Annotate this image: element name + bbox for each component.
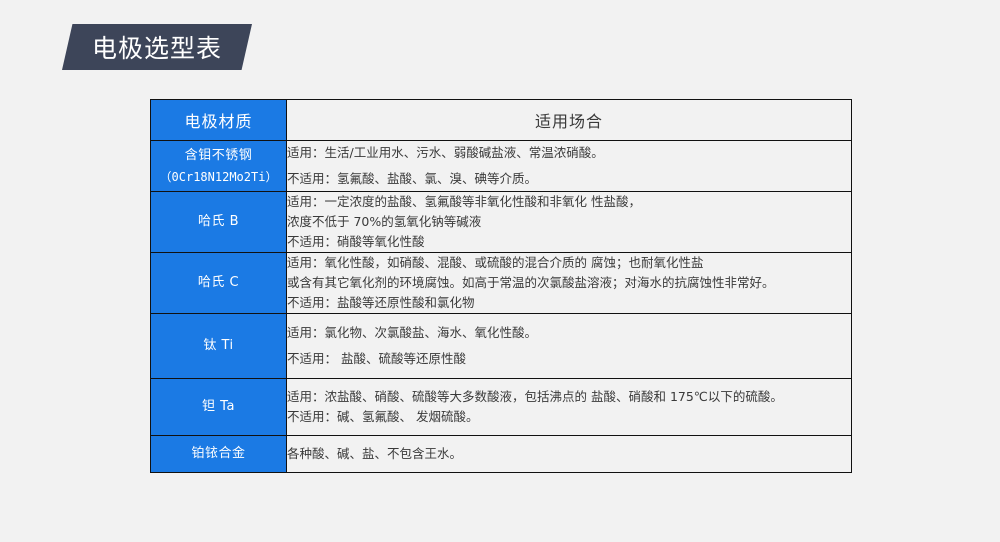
table-row: 钽 Ta 适用：浓盐酸、硝酸、硫酸等大多数酸液，包括沸点的 盐酸、硝酸和 175… bbox=[151, 379, 852, 436]
usage-line: 浓度不低于 70%的氢氧化钠等碱液 bbox=[287, 212, 851, 232]
material-cell: 哈氏 C bbox=[151, 253, 287, 314]
page-title-banner: 电极选型表 bbox=[62, 24, 252, 70]
material-cell: 哈氏 B bbox=[151, 192, 287, 253]
material-name: 哈氏 C bbox=[198, 275, 239, 290]
usage-line: 不适用：硝酸等氧化性酸 bbox=[287, 232, 851, 252]
page-title: 电极选型表 bbox=[62, 24, 252, 70]
electrode-selection-table: 电极材质 适用场合 含钼不锈钢 （0Cr18N12Mo2Ti） 适用：生活/工业… bbox=[150, 99, 852, 473]
usage-line: 各种酸、碱、盐、不包含王水。 bbox=[287, 444, 851, 464]
material-name: 钽 Ta bbox=[202, 399, 235, 414]
table-row: 哈氏 C 适用：氧化性酸，如硝酸、混酸、或硫酸的混合介质的 腐蚀；也耐氧化性盐 … bbox=[151, 253, 852, 314]
usage-line: 适用：氯化物、次氯酸盐、海水、氧化性酸。 bbox=[287, 323, 851, 343]
usage-cell: 适用：浓盐酸、硝酸、硫酸等大多数酸液，包括沸点的 盐酸、硝酸和 175℃以下的硫… bbox=[287, 379, 852, 436]
usage-line: 不适用：氢氟酸、盐酸、氯、溴、碘等介质。 bbox=[287, 169, 851, 189]
column-header-usage: 适用场合 bbox=[287, 100, 852, 141]
table-header-row: 电极材质 适用场合 bbox=[151, 100, 852, 141]
usage-line: 适用：氧化性酸，如硝酸、混酸、或硫酸的混合介质的 腐蚀；也耐氧化性盐 bbox=[287, 253, 851, 273]
table-row: 铂铱合金 各种酸、碱、盐、不包含王水。 bbox=[151, 436, 852, 473]
usage-line: 或含有其它氧化剂的环境腐蚀。如高于常温的次氯酸盐溶液；对海水的抗腐蚀性非常好。 bbox=[287, 273, 851, 293]
usage-cell: 适用：生活/工业用水、污水、弱酸碱盐液、常温浓硝酸。 不适用：氢氟酸、盐酸、氯、… bbox=[287, 141, 852, 192]
usage-cell: 适用：氯化物、次氯酸盐、海水、氧化性酸。 不适用： 盐酸、硫酸等还原性酸 bbox=[287, 314, 852, 379]
usage-cell: 各种酸、碱、盐、不包含王水。 bbox=[287, 436, 852, 473]
usage-cell: 适用：氧化性酸，如硝酸、混酸、或硫酸的混合介质的 腐蚀；也耐氧化性盐 或含有其它… bbox=[287, 253, 852, 314]
material-cell: 铂铱合金 bbox=[151, 436, 287, 473]
table-body: 含钼不锈钢 （0Cr18N12Mo2Ti） 适用：生活/工业用水、污水、弱酸碱盐… bbox=[151, 141, 852, 473]
material-name: 含钼不锈钢 bbox=[185, 148, 253, 163]
material-cell: 钽 Ta bbox=[151, 379, 287, 436]
material-cell: 钛 Ti bbox=[151, 314, 287, 379]
material-name: 钛 Ti bbox=[203, 338, 233, 353]
table-row: 哈氏 B 适用：一定浓度的盐酸、氢氟酸等非氧化性酸和非氧化 性盐酸， 浓度不低于… bbox=[151, 192, 852, 253]
table-row: 钛 Ti 适用：氯化物、次氯酸盐、海水、氧化性酸。 不适用： 盐酸、硫酸等还原性… bbox=[151, 314, 852, 379]
usage-line: 不适用：盐酸等还原性酸和氯化物 bbox=[287, 293, 851, 313]
usage-line: 适用：一定浓度的盐酸、氢氟酸等非氧化性酸和非氧化 性盐酸， bbox=[287, 192, 851, 212]
material-cell: 含钼不锈钢 （0Cr18N12Mo2Ti） bbox=[151, 141, 287, 192]
material-code: （0Cr18N12Mo2Ti） bbox=[151, 167, 286, 187]
material-name: 哈氏 B bbox=[198, 214, 239, 229]
usage-line: 不适用： 盐酸、硫酸等还原性酸 bbox=[287, 349, 851, 369]
usage-line: 适用：生活/工业用水、污水、弱酸碱盐液、常温浓硝酸。 bbox=[287, 143, 851, 163]
column-header-material: 电极材质 bbox=[151, 100, 287, 141]
material-name: 铂铱合金 bbox=[191, 446, 245, 461]
table-row: 含钼不锈钢 （0Cr18N12Mo2Ti） 适用：生活/工业用水、污水、弱酸碱盐… bbox=[151, 141, 852, 192]
usage-cell: 适用：一定浓度的盐酸、氢氟酸等非氧化性酸和非氧化 性盐酸， 浓度不低于 70%的… bbox=[287, 192, 852, 253]
usage-line: 不适用：碱、氢氟酸、 发烟硫酸。 bbox=[287, 407, 851, 427]
usage-line: 适用：浓盐酸、硝酸、硫酸等大多数酸液，包括沸点的 盐酸、硝酸和 175℃以下的硫… bbox=[287, 387, 851, 407]
